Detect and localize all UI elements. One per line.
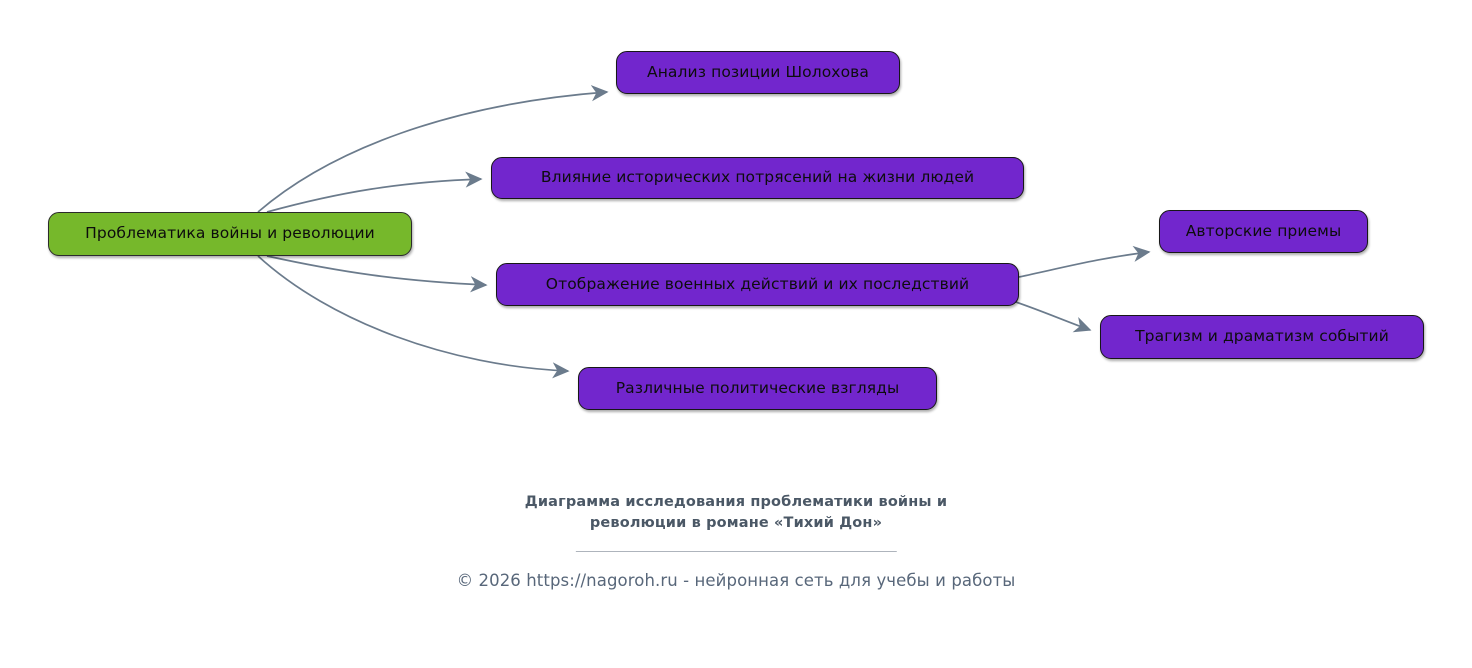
edge-otobrazhenie-to-priemy [1019, 252, 1149, 277]
node-razlichnye-politicheskie-vzglyady[interactable]: Различные политические взгляды [578, 367, 937, 410]
node-razlichnye-politicheskie-vzglyady-label: Различные политические взгляды [616, 381, 900, 397]
node-root[interactable]: Проблематика войны и революции [48, 212, 412, 256]
node-vliyanie-istoricheskih-potryaseniy-label: Влияние исторических потрясений на жизни… [541, 170, 974, 186]
node-otobrazhenie-voennyh-deystviy[interactable]: Отображение военных действий и их послед… [496, 263, 1019, 306]
node-avtorskie-priemy[interactable]: Авторские приемы [1159, 210, 1368, 253]
caption-block: Диаграмма исследования проблематики войн… [0, 492, 1472, 590]
edge-root-to-otobrazhenie [267, 256, 486, 285]
caption-divider: ________________________________________… [0, 539, 1472, 552]
node-analiz-pozicii-sholohova-label: Анализ позиции Шолохова [647, 65, 869, 81]
node-analiz-pozicii-sholohova[interactable]: Анализ позиции Шолохова [616, 51, 900, 94]
node-vliyanie-istoricheskih-potryaseniy[interactable]: Влияние исторических потрясений на жизни… [491, 157, 1024, 199]
diagram-caption-title: Диаграмма исследования проблематики войн… [476, 492, 996, 534]
node-avtorskie-priemy-label: Авторские приемы [1186, 224, 1342, 240]
node-root-label: Проблематика войны и революции [85, 226, 375, 242]
node-tragizm-i-dramatizm-sobytiy[interactable]: Трагизм и драматизм событий [1100, 315, 1424, 359]
node-tragizm-i-dramatizm-sobytiy-label: Трагизм и драматизм событий [1135, 329, 1389, 345]
edge-root-to-vliyanie [267, 179, 481, 212]
footer-credit: © 2026 https://nagoroh.ru - нейронная се… [0, 571, 1472, 590]
diagram-canvas: Проблематика войны и революции Анализ по… [0, 0, 1472, 668]
node-otobrazhenie-voennyh-deystviy-label: Отображение военных действий и их послед… [546, 277, 969, 293]
edge-otobrazhenie-to-tragizm [1010, 300, 1090, 330]
